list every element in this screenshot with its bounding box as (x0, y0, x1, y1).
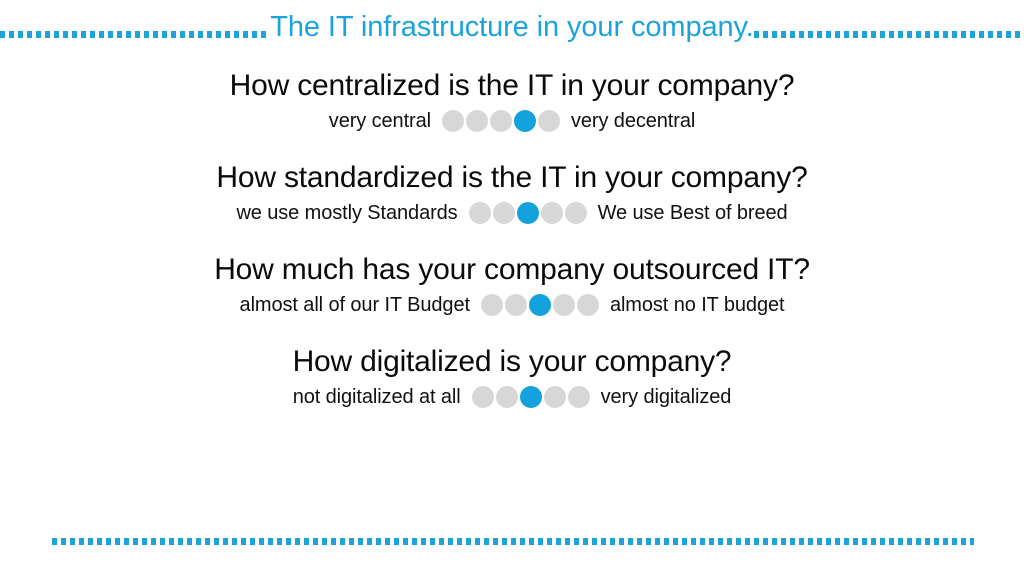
question-block-standardized: How standardized is the IT in your compa… (0, 160, 1024, 226)
scale-dot-5[interactable] (565, 202, 587, 224)
question-block-outsourced: How much has your company outsourced IT?… (0, 252, 1024, 318)
likert-scale[interactable]: not digitalized at all very digitalized (0, 384, 1024, 410)
scale-dot-4[interactable] (544, 386, 566, 408)
slide-header: The IT infrastructure in your company. (0, 6, 1024, 48)
question-list: How centralized is the IT in your compan… (0, 68, 1024, 436)
scale-dot-3[interactable] (517, 202, 539, 224)
scale-dot-5[interactable] (577, 294, 599, 316)
scale-label-left: very central (329, 108, 431, 134)
scale-dots[interactable] (472, 386, 590, 408)
dotted-rule-footer-icon (52, 538, 974, 545)
scale-label-left: almost all of our IT Budget (240, 292, 470, 318)
scale-dot-2[interactable] (493, 202, 515, 224)
likert-scale[interactable]: we use mostly Standards We use Best of b… (0, 200, 1024, 226)
scale-dot-2[interactable] (505, 294, 527, 316)
scale-dot-1[interactable] (469, 202, 491, 224)
scale-dot-5[interactable] (568, 386, 590, 408)
question-title: How much has your company outsourced IT? (0, 252, 1024, 288)
scale-dot-4[interactable] (541, 202, 563, 224)
question-title: How digitalized is your company? (0, 344, 1024, 380)
dotted-rule-left-icon (0, 31, 270, 38)
question-title: How standardized is the IT in your compa… (0, 160, 1024, 196)
scale-label-right: almost no IT budget (610, 292, 785, 318)
scale-dot-1[interactable] (481, 294, 503, 316)
page-title: The IT infrastructure in your company. (270, 13, 754, 42)
scale-dot-3[interactable] (529, 294, 551, 316)
scale-dot-1[interactable] (472, 386, 494, 408)
scale-label-right: We use Best of breed (598, 200, 788, 226)
scale-dot-4[interactable] (514, 110, 536, 132)
scale-dot-4[interactable] (553, 294, 575, 316)
likert-scale[interactable]: almost all of our IT Budget almost no IT… (0, 292, 1024, 318)
scale-label-right: very decentral (571, 108, 695, 134)
scale-dot-2[interactable] (466, 110, 488, 132)
likert-scale[interactable]: very central very decentral (0, 108, 1024, 134)
question-block-centralized: How centralized is the IT in your compan… (0, 68, 1024, 134)
scale-dot-3[interactable] (520, 386, 542, 408)
scale-dots[interactable] (481, 294, 599, 316)
scale-label-left: we use mostly Standards (236, 200, 457, 226)
scale-dot-3[interactable] (490, 110, 512, 132)
scale-dots[interactable] (442, 110, 560, 132)
slide-canvas: The IT infrastructure in your company. H… (0, 0, 1024, 576)
dotted-rule-right-icon (754, 31, 1024, 38)
scale-dot-5[interactable] (538, 110, 560, 132)
question-title: How centralized is the IT in your compan… (0, 68, 1024, 104)
scale-dot-2[interactable] (496, 386, 518, 408)
scale-dot-1[interactable] (442, 110, 464, 132)
scale-dots[interactable] (469, 202, 587, 224)
scale-label-right: very digitalized (601, 384, 732, 410)
scale-label-left: not digitalized at all (293, 384, 461, 410)
question-block-digitalized: How digitalized is your company? not dig… (0, 344, 1024, 410)
